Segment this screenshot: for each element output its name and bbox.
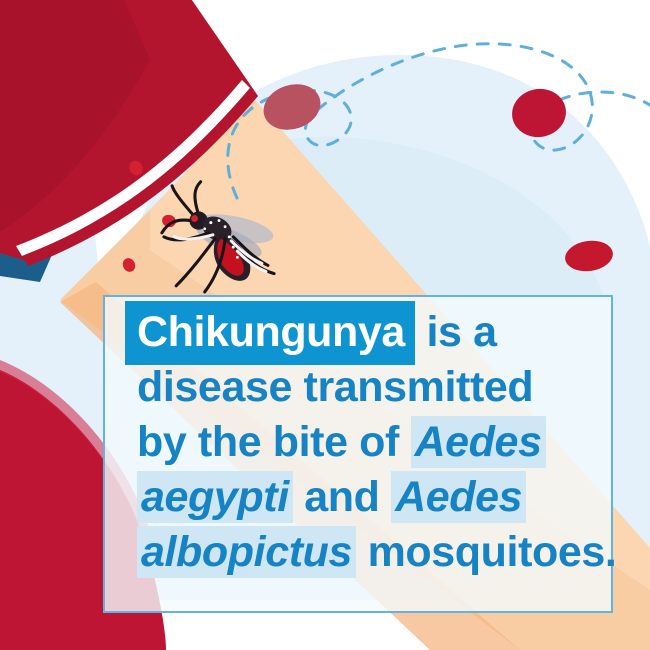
scientific-name-albopictus: albopictus <box>137 526 356 578</box>
poster-canvas: Chikungunya is a disease transmitted by … <box>0 0 650 650</box>
headline-plain-2: disease transmitted <box>137 363 533 411</box>
keyword-chikungunya: Chikungunya <box>125 301 415 365</box>
headline-text: Chikungunya is a disease transmitted by … <box>105 297 611 611</box>
headline-plain-3: by the bite of <box>137 418 411 466</box>
headline-line-2: disease transmitted <box>105 360 611 415</box>
scientific-name-aedes-1: Aedes <box>411 416 546 468</box>
headline-plain-1: is a <box>415 308 497 356</box>
headline-line-5: albopictus mosquitoes. <box>105 525 611 580</box>
headline-line-3: by the bite of Aedes <box>105 415 611 470</box>
headline-plain-4: and <box>293 473 391 521</box>
headline-plain-5: mosquitoes. <box>356 528 616 576</box>
headline-card: Chikungunya is a disease transmitted by … <box>103 295 613 613</box>
scientific-name-aegypti: aegypti <box>137 471 293 523</box>
headline-line-4: aegypti and Aedes <box>105 470 611 525</box>
headline-line-1: Chikungunya is a <box>105 305 611 360</box>
scientific-name-aedes-2: Aedes <box>391 471 526 523</box>
